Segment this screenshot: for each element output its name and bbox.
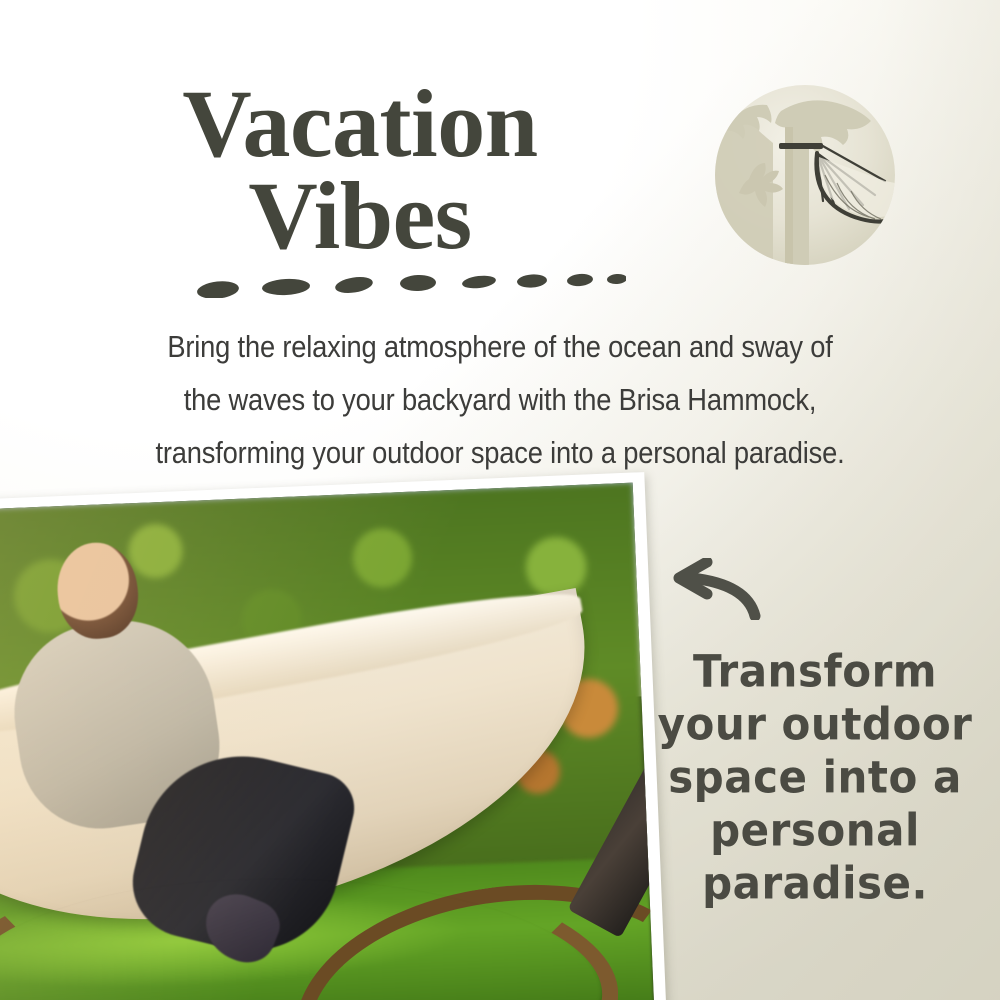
callout-line-3: space into a <box>650 751 980 804</box>
hand-drawn-dashed-divider <box>196 268 626 298</box>
callout-line-5: paradise. <box>650 857 980 910</box>
photo-warm-light-overlay <box>0 483 655 1000</box>
handwritten-callout: Transform your outdoor space into a pers… <box>650 645 980 910</box>
lifestyle-photo-card <box>0 472 667 1000</box>
hammock-lifestyle-photo <box>0 483 655 1000</box>
palm-tree-hammock-badge <box>713 83 897 267</box>
description-paragraph: Bring the relaxing atmosphere of the oce… <box>108 320 891 479</box>
promo-banner: Vacation Vibes <box>0 0 1000 1000</box>
description-line-3: transforming your outdoor space into a p… <box>108 426 891 479</box>
curved-left-arrow-icon <box>655 558 765 620</box>
description-line-2: the waves to your backyard with the Bris… <box>108 373 891 426</box>
description-line-1: Bring the relaxing atmosphere of the oce… <box>108 320 891 373</box>
page-title: Vacation Vibes <box>40 78 680 262</box>
header-section: Vacation Vibes <box>0 0 1000 310</box>
callout-line-4: personal <box>650 804 980 857</box>
callout-line-2: your outdoor <box>650 698 980 751</box>
callout-line-1: Transform <box>650 645 980 698</box>
